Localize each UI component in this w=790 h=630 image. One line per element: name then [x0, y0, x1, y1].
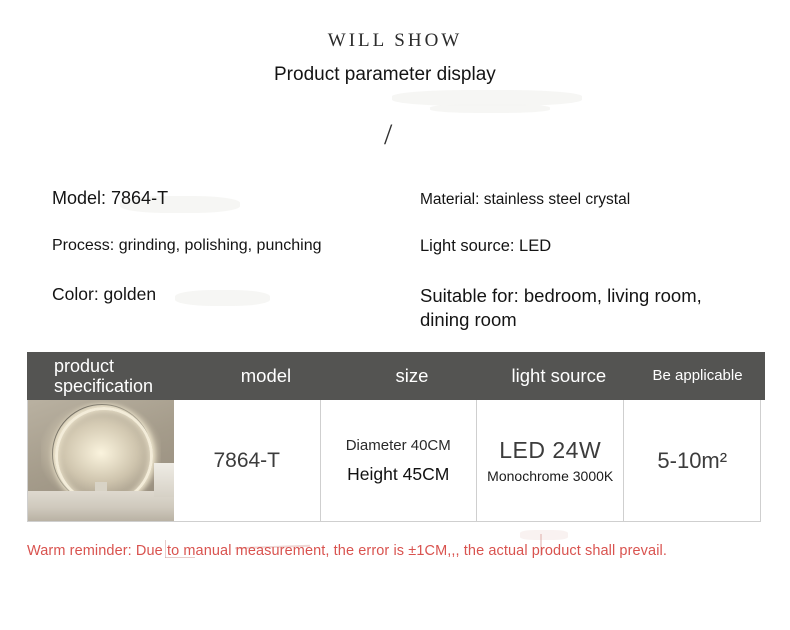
- cell-applicable-area: 5-10m²: [624, 400, 760, 521]
- note-ghost: [520, 530, 568, 540]
- spec-suitable-for: Suitable for: bedroom, living room, dini…: [420, 284, 750, 333]
- watermark-ghost: [430, 104, 550, 113]
- page-title: Product parameter display: [274, 62, 574, 87]
- table-header-be-applicable: Be applicable: [630, 352, 765, 400]
- spec-material: Material: stainless steel crystal: [420, 190, 750, 210]
- spec-color: Color: golden: [52, 284, 402, 305]
- table-header-row: product specification model size light s…: [27, 352, 765, 400]
- spec-light-source: Light source: LED: [420, 236, 750, 257]
- cell-size-diameter: Diameter 40CM: [346, 437, 451, 454]
- watermark-ghost: [392, 90, 582, 106]
- spec-list-left: Model: 7864-T Process: grinding, polishi…: [52, 188, 402, 305]
- spec-model: Model: 7864-T: [52, 188, 402, 209]
- slash-divider-glyph: /: [384, 120, 392, 150]
- cell-size-height: Height 45CM: [347, 464, 449, 485]
- table-header-model: model: [196, 352, 337, 400]
- brand-title: WILL SHOW: [0, 30, 790, 52]
- console-table: [28, 491, 174, 521]
- spec-process: Process: grinding, polishing, punching: [52, 237, 402, 255]
- table-header-light-source: light source: [488, 352, 631, 400]
- table-header-product-specification: product specification: [27, 352, 196, 400]
- spec-list-right: Material: stainless steel crystal Light …: [420, 190, 750, 353]
- cell-light-source: LED 24W Monochrome 3000K: [477, 400, 625, 521]
- side-panel: [154, 463, 174, 497]
- table-header-size: size: [336, 352, 487, 400]
- ring-lamp-photo: [28, 400, 174, 521]
- warm-reminder-note: Warm reminder: Due to manual measurement…: [27, 543, 667, 559]
- specification-table: product specification model size light s…: [27, 352, 765, 522]
- table-row: 7864-T Diameter 40CM Height 45CM LED 24W…: [27, 400, 761, 522]
- product-image-cell: [28, 400, 174, 521]
- cell-model: 7864-T: [174, 400, 321, 521]
- cell-size: Diameter 40CM Height 45CM: [321, 400, 477, 521]
- cell-light-source-color: Monochrome 3000K: [487, 468, 613, 484]
- cell-light-source-power: LED 24W: [499, 437, 601, 464]
